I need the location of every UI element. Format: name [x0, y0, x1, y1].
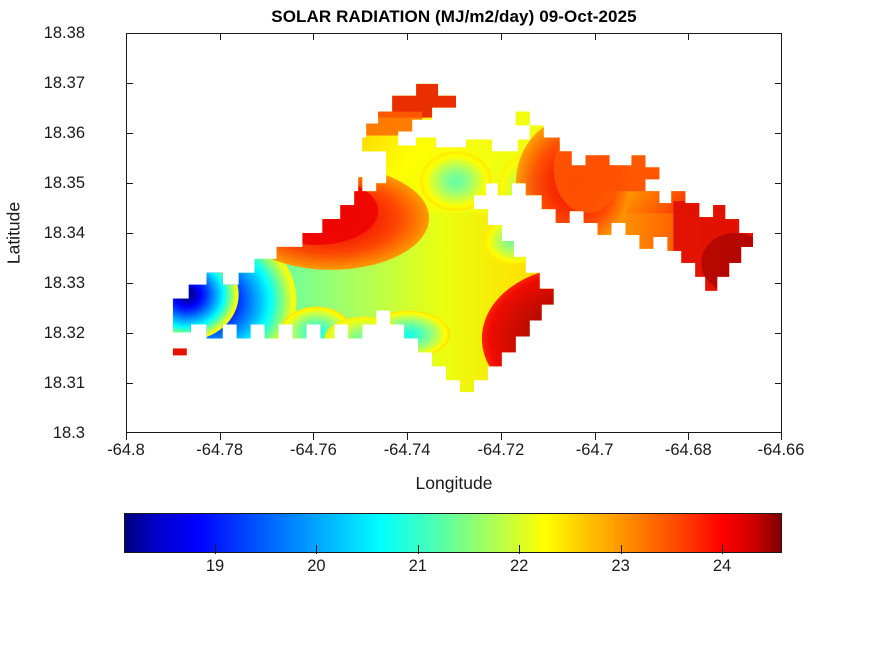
x-tick-top-64-76: [313, 33, 314, 40]
contour-field: [127, 34, 781, 432]
x-tick-top-64-78: [220, 33, 221, 40]
x-tick-64-74: [407, 433, 408, 440]
x-tick-64-76: [313, 433, 314, 440]
colorbar-label-22: 22: [489, 557, 549, 575]
colorbar-tick-24: [722, 545, 723, 554]
solar-radiation-contour-map: [127, 34, 781, 432]
x-tick-top-64-74: [407, 33, 408, 40]
colorbar[interactable]: [124, 513, 782, 553]
x-tick-label-64-66: -64.66: [741, 441, 821, 459]
x-tick-top-64-80: [126, 33, 127, 40]
y-tick-18-31: [126, 383, 133, 384]
colorbar-tick-23: [621, 545, 622, 554]
colorbar-label-21: 21: [388, 557, 448, 575]
y-axis-label: Latitude: [4, 202, 25, 264]
y-tick-right-18-34: [775, 233, 782, 234]
x-tick-64-78: [220, 433, 221, 440]
y-tick-18-35: [126, 183, 133, 184]
y-tick-label-18-34: 18.34: [44, 224, 85, 242]
colorbar-tick-19: [215, 545, 216, 554]
y-tick-label-18-30: 18.3: [53, 424, 85, 442]
x-tick-top-64-72: [501, 33, 502, 40]
x-tick-64-68: [688, 433, 689, 440]
y-tick-label-18-38: 18.38: [44, 24, 85, 42]
y-tick-label-18-35: 18.35: [44, 174, 85, 192]
colorbar-label-20: 20: [286, 557, 346, 575]
x-tick-label-64-76: -64.76: [273, 441, 353, 459]
x-tick-top-64-70: [595, 33, 596, 40]
x-tick-label-64-72: -64.72: [461, 441, 541, 459]
y-tick-right-18-35: [775, 183, 782, 184]
y-tick-label-18-33: 18.33: [44, 274, 85, 292]
y-tick-18-36: [126, 133, 133, 134]
x-tick-label-64-80: -64.8: [86, 441, 166, 459]
y-tick-18-37: [126, 83, 133, 84]
y-tick-right-18-31: [775, 383, 782, 384]
y-tick-18-34: [126, 233, 133, 234]
colorbar-tick-20: [316, 545, 317, 554]
plot-area[interactable]: [126, 33, 782, 433]
x-axis-label: Longitude: [126, 473, 782, 494]
y-tick-18-33: [126, 283, 133, 284]
colorbar-tick-22: [519, 545, 520, 554]
x-tick-label-64-78: -64.78: [180, 441, 260, 459]
isolated-data-patch: [173, 348, 187, 355]
figure-canvas: SOLAR RADIATION (MJ/m2/day) 09-Oct-2025: [0, 0, 875, 656]
y-tick-right-18-36: [775, 133, 782, 134]
colorbar-label-23: 23: [591, 557, 651, 575]
y-tick-right-18-37: [775, 83, 782, 84]
y-tick-right-18-33: [775, 283, 782, 284]
page-title: SOLAR RADIATION (MJ/m2/day) 09-Oct-2025: [126, 6, 782, 28]
y-tick-label-18-36: 18.36: [44, 124, 85, 142]
x-tick-top-64-68: [688, 33, 689, 40]
y-tick-right-18-32: [775, 333, 782, 334]
y-tick-18-30: [126, 432, 133, 433]
x-tick-label-64-68: -64.68: [648, 441, 728, 459]
colorbar-label-24: 24: [692, 557, 752, 575]
y-tick-label-18-31: 18.31: [44, 374, 85, 392]
x-tick-64-72: [501, 433, 502, 440]
x-tick-64-80: [126, 433, 127, 440]
x-tick-label-64-74: -64.74: [367, 441, 447, 459]
x-tick-label-64-70: -64.7: [555, 441, 635, 459]
x-tick-top-64-66: [781, 33, 782, 40]
colorbar-label-19: 19: [185, 557, 245, 575]
y-tick-18-32: [126, 333, 133, 334]
colorbar-tick-21: [418, 545, 419, 554]
y-tick-18-38: [126, 33, 133, 34]
y-tick-label-18-32: 18.32: [44, 324, 85, 342]
x-tick-64-66: [781, 433, 782, 440]
x-tick-64-70: [595, 433, 596, 440]
y-tick-label-18-37: 18.37: [44, 74, 85, 92]
